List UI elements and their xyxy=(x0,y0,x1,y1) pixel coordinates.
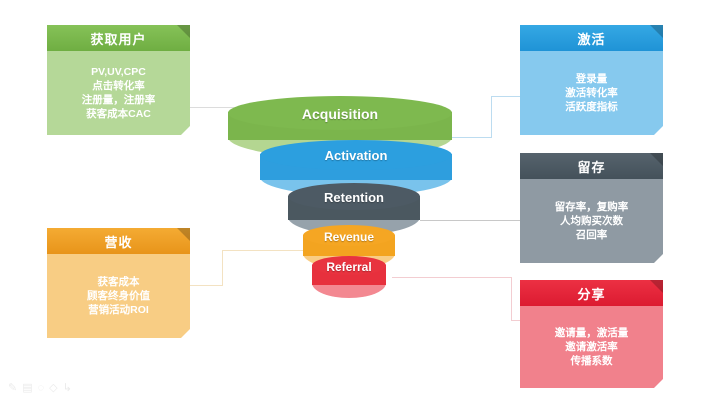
card-revenue[interactable]: 营收 获客成本 顾客终身价值 营销活动ROI xyxy=(47,228,190,338)
image-icon: ▤ xyxy=(22,383,32,394)
card-referral-line-3: 传播系数 xyxy=(571,354,613,368)
funnel-label-acquisition: Acquisition xyxy=(228,106,452,122)
card-revenue-body: 获客成本 顾客终身价值 营销活动ROI xyxy=(47,254,190,338)
funnel-label-referral: Referral xyxy=(312,260,386,274)
fold-corner-icon xyxy=(650,153,663,166)
funnel-label-retention: Retention xyxy=(288,190,420,205)
ellipse-icon: ◇ xyxy=(49,383,57,394)
card-activation-line-2: 激活转化率 xyxy=(565,86,618,100)
card-corner-icon xyxy=(654,126,663,135)
card-referral-body: 邀请量，激活量 邀请激活率 传播系数 xyxy=(520,306,663,388)
card-activation-header: 激活 xyxy=(520,25,663,51)
cursor-icon: ↳ xyxy=(63,383,72,394)
card-corner-icon xyxy=(654,379,663,388)
card-acquisition-line-4: 获客成本CAC xyxy=(86,107,151,121)
card-revenue-line-2: 顾客终身价值 xyxy=(87,289,150,303)
card-corner-icon xyxy=(181,329,190,338)
card-activation-body: 登录量 激活转化率 活跃度指标 xyxy=(520,51,663,135)
funnel-layer-referral[interactable]: Referral xyxy=(312,256,386,298)
card-retention-line-1: 留存率，复购率 xyxy=(555,200,629,214)
card-acquisition-line-3: 注册量，注册率 xyxy=(82,93,156,107)
fold-corner-icon xyxy=(177,25,190,38)
card-referral[interactable]: 分享 邀请量，激活量 邀请激活率 传播系数 xyxy=(520,280,663,388)
card-retention-line-2: 人均购买次数 xyxy=(560,214,623,228)
card-referral-title: 分享 xyxy=(577,284,605,303)
card-retention-line-3: 召回率 xyxy=(576,228,608,242)
card-referral-header: 分享 xyxy=(520,280,663,306)
card-acquisition-line-1: PV,UV,CPC xyxy=(91,65,146,79)
card-acquisition-body: PV,UV,CPC 点击转化率 注册量，注册率 获客成本CAC xyxy=(47,51,190,135)
card-retention[interactable]: 留存 留存率，复购率 人均购买次数 召回率 xyxy=(520,153,663,263)
funnel-label-activation: Activation xyxy=(260,148,452,163)
fold-corner-icon xyxy=(177,228,190,241)
card-acquisition-title: 获取用户 xyxy=(90,29,146,48)
card-retention-header: 留存 xyxy=(520,153,663,179)
card-revenue-title: 营收 xyxy=(104,232,132,251)
card-revenue-line-3: 营销活动ROI xyxy=(88,303,149,317)
card-acquisition-line-2: 点击转化率 xyxy=(92,79,145,93)
card-activation-line-1: 登录量 xyxy=(576,72,608,86)
shape-icon: ◌ xyxy=(38,383,45,394)
card-referral-line-1: 邀请量，激活量 xyxy=(555,326,629,340)
pen-icon: ✎ xyxy=(8,383,17,394)
card-referral-line-2: 邀请激活率 xyxy=(565,340,618,354)
fold-corner-icon xyxy=(650,25,663,38)
card-retention-title: 留存 xyxy=(577,157,605,176)
card-acquisition[interactable]: 获取用户 PV,UV,CPC 点击转化率 注册量，注册率 获客成本CAC xyxy=(47,25,190,135)
watermark-toolbar: ✎ ▤ ◌ ◇ ↳ xyxy=(8,383,72,394)
card-revenue-line-1: 获客成本 xyxy=(98,275,140,289)
card-revenue-header: 营收 xyxy=(47,228,190,254)
card-activation-title: 激活 xyxy=(577,29,605,48)
funnel-label-revenue: Revenue xyxy=(303,230,395,244)
card-acquisition-header: 获取用户 xyxy=(47,25,190,51)
fold-corner-icon xyxy=(650,280,663,293)
card-corner-icon xyxy=(654,254,663,263)
card-activation-line-3: 活跃度指标 xyxy=(565,100,618,114)
card-corner-icon xyxy=(181,126,190,135)
card-activation[interactable]: 激活 登录量 激活转化率 活跃度指标 xyxy=(520,25,663,135)
card-retention-body: 留存率，复购率 人均购买次数 召回率 xyxy=(520,179,663,263)
diagram-canvas: Acquisition Activation Retention Revenue xyxy=(0,0,711,400)
